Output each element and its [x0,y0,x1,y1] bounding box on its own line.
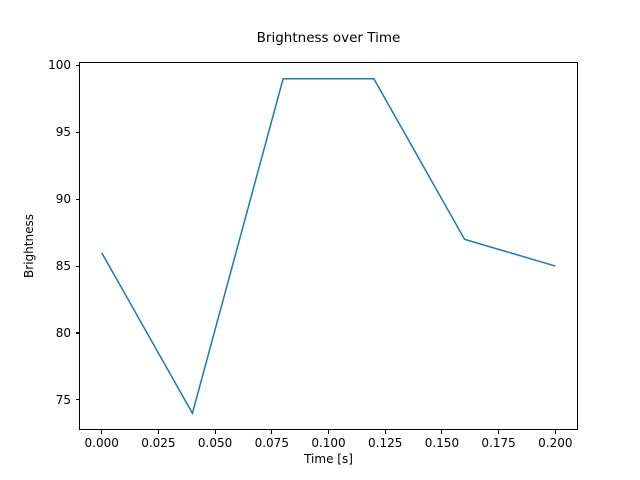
x-axis-label: Time [s] [79,452,578,466]
x-tick-label: 0.200 [538,436,572,450]
x-tick-label: 0.025 [141,436,175,450]
x-tick-label: 0.000 [84,436,118,450]
chart-title: Brightness over Time [79,30,578,46]
x-tick-mark [555,430,556,434]
x-tick-mark [158,430,159,434]
x-tick-label: 0.150 [425,436,459,450]
y-tick-label: 80 [11,326,71,340]
x-tick-label: 0.175 [481,436,515,450]
x-tick-label: 0.075 [255,436,289,450]
y-tick-label: 85 [11,259,71,273]
y-tick-label: 95 [11,125,71,139]
y-tick-mark [76,266,80,267]
data-line-layer [79,62,578,430]
x-tick-mark [328,430,329,434]
y-tick-label: 90 [11,192,71,206]
x-tick-mark [385,430,386,434]
x-tick-label: 0.125 [368,436,402,450]
x-tick-label: 0.100 [311,436,345,450]
plot-area [79,62,578,430]
x-tick-label: 0.050 [198,436,232,450]
x-tick-mark [215,430,216,434]
y-tick-label: 75 [11,393,71,407]
x-tick-mark [101,430,102,434]
x-tick-mark [271,430,272,434]
y-tick-label: 100 [11,58,71,72]
y-tick-mark [76,332,80,333]
y-tick-mark [76,132,80,133]
y-tick-mark [76,199,80,200]
x-tick-mark [441,430,442,434]
x-tick-mark [498,430,499,434]
matplotlib-figure: Brightness over Time Brightness 75808590… [0,0,640,480]
y-tick-mark [76,65,80,66]
y-tick-mark [76,399,80,400]
brightness-line-series [102,79,556,414]
